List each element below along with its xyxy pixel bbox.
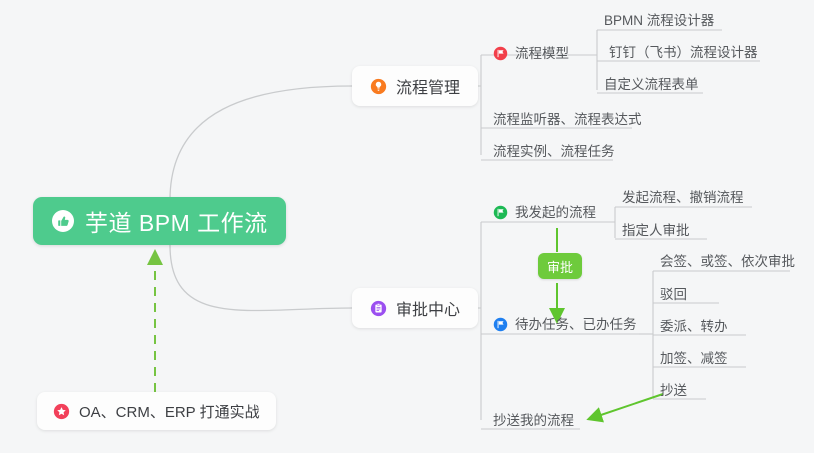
link-root-to-process-management [170,86,352,200]
arrow-cc-to-myprocess [592,394,663,418]
node-process-model[interactable]: 流程模型 [493,46,569,61]
branch-approval-center[interactable]: 审批中心 [352,288,478,328]
node-label: 抄送 [660,384,687,398]
node-label: BPMN 流程设计器 [604,14,714,28]
node-cc-to-me[interactable]: 抄送我的流程 [493,414,574,428]
node-label: 自定义流程表单 [604,78,699,92]
node-delegate-transfer[interactable]: 委派、转办 [660,320,728,334]
node-add-remove-sign[interactable]: 加签、减签 [660,352,728,366]
mindmap-canvas: 芋道 BPM 工作流 流程管理 流程模型 BPMN 流程设计器 钉钉（飞书 [0,0,814,453]
node-label: 加签、减签 [660,352,728,366]
branch-process-management[interactable]: 流程管理 [352,66,478,106]
flag-icon [493,46,508,61]
root-node[interactable]: 芋道 BPM 工作流 [33,197,286,245]
node-dingtalk-feishu-designer[interactable]: 钉钉（飞书）流程设计器 [609,46,758,60]
root-label: 芋道 BPM 工作流 [85,204,268,238]
node-label: 待办任务、已办任务 [515,318,637,332]
node-custom-process-form[interactable]: 自定义流程表单 [604,78,699,92]
node-label: 流程实例、流程任务 [493,145,615,159]
node-reject[interactable]: 驳回 [660,288,687,302]
node-listener-expression[interactable]: 流程监听器、流程表达式 [493,113,642,127]
integration-note-label: OA、CRM、ERP 打通实战 [79,401,260,422]
node-start-cancel-process[interactable]: 发起流程、撤销流程 [622,191,744,205]
flag-icon [493,317,508,332]
branch-label: 审批中心 [396,296,460,320]
branch-label: 流程管理 [396,74,460,98]
node-label: 我发起的流程 [515,206,596,220]
node-label: 抄送我的流程 [493,414,574,428]
flag-icon [493,205,508,220]
node-label: 指定人审批 [622,224,690,238]
approval-tag: 审批 [538,253,582,279]
node-instance-task[interactable]: 流程实例、流程任务 [493,145,615,159]
node-label: 流程监听器、流程表达式 [493,113,642,127]
node-assignee-approval[interactable]: 指定人审批 [622,224,690,238]
node-label: 委派、转办 [660,320,728,334]
node-bpmn-designer[interactable]: BPMN 流程设计器 [604,14,714,28]
node-todo-done-task[interactable]: 待办任务、已办任务 [493,317,637,332]
integration-note[interactable]: OA、CRM、ERP 打通实战 [37,392,276,430]
lightbulb-icon [370,78,387,95]
link-root-to-approval-center [170,245,352,311]
approval-tag-label: 审批 [547,257,573,276]
star-icon [53,403,70,420]
node-cc[interactable]: 抄送 [660,384,687,398]
clipboard-icon [370,300,387,317]
node-countersign[interactable]: 会签、或签、依次审批 [660,255,795,269]
node-label: 发起流程、撤销流程 [622,191,744,205]
node-label: 流程模型 [515,47,569,61]
thumbs-up-icon [51,209,75,233]
node-label: 驳回 [660,288,687,302]
node-label: 钉钉（飞书）流程设计器 [609,46,758,60]
node-my-initiated-process[interactable]: 我发起的流程 [493,205,596,220]
node-label: 会签、或签、依次审批 [660,255,795,269]
